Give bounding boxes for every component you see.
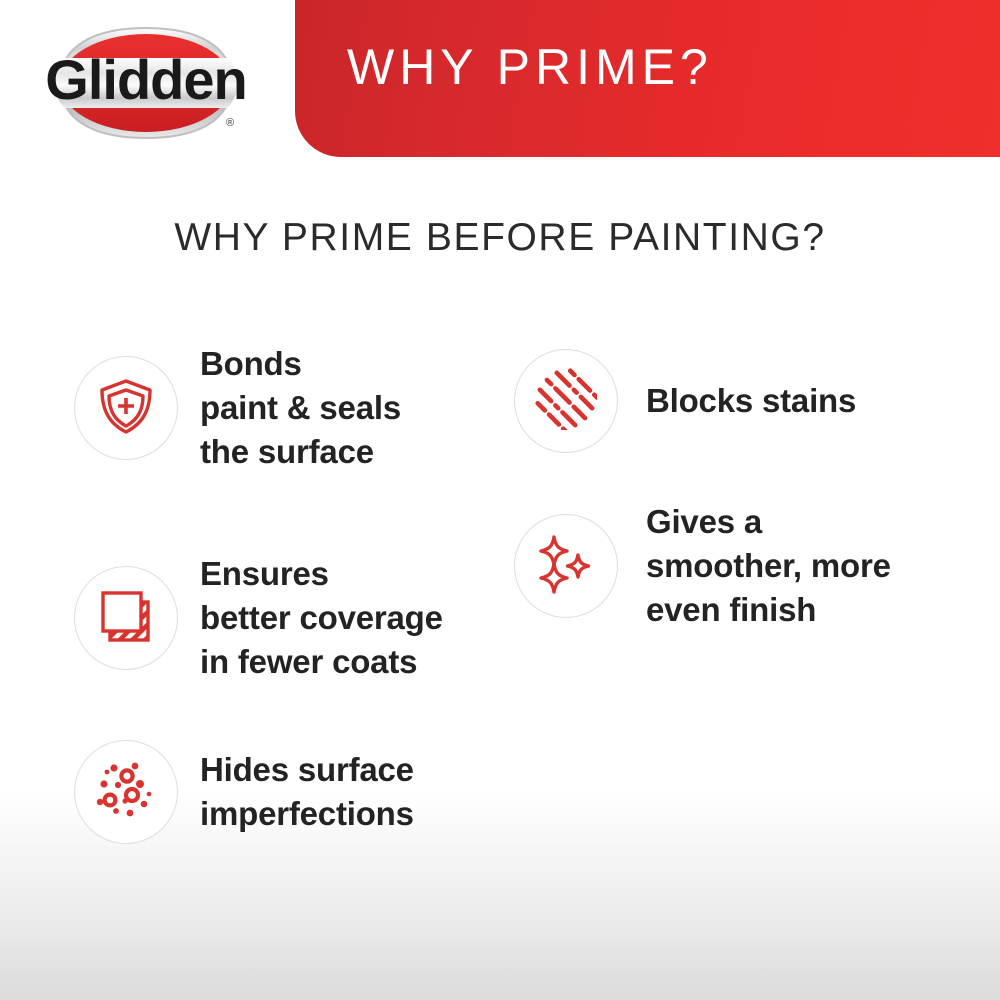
feature-label: Hides surface imperfections bbox=[200, 748, 414, 836]
feature-item-gives: Gives a smoother, more even finish bbox=[514, 500, 891, 632]
glidden-logo: Glidden ® bbox=[46, 22, 246, 144]
sparkles-icon bbox=[535, 533, 597, 600]
svg-text:Glidden: Glidden bbox=[46, 48, 246, 111]
feature-label: Bonds paint & seals the surface bbox=[200, 342, 401, 474]
icon-badge bbox=[74, 356, 178, 460]
icon-badge bbox=[74, 566, 178, 670]
icon-badge bbox=[514, 514, 618, 618]
svg-text:®: ® bbox=[226, 117, 234, 129]
scattered-dots-icon bbox=[94, 758, 158, 827]
feature-label: Ensures better coverage in fewer coats bbox=[200, 552, 443, 684]
icon-badge bbox=[74, 740, 178, 844]
diagonal-strokes-icon bbox=[535, 368, 597, 435]
overlapping-squares-icon bbox=[95, 585, 157, 652]
banner-title: WHY PRIME? bbox=[347, 38, 713, 96]
feature-item-ensures: Ensures better coverage in fewer coats bbox=[74, 552, 443, 684]
feature-item-hides: Hides surface imperfections bbox=[74, 740, 414, 844]
feature-label: Blocks stains bbox=[646, 379, 856, 423]
feature-item-bonds: Bonds paint & seals the surface bbox=[74, 342, 401, 474]
poster-canvas: WHY PRIME? bbox=[0, 0, 1000, 1000]
icon-badge bbox=[514, 349, 618, 453]
shield-plus-icon bbox=[95, 375, 157, 442]
page-subtitle: WHY PRIME BEFORE PAINTING? bbox=[0, 216, 1000, 260]
feature-item-blocks-stains: Blocks stains bbox=[514, 349, 856, 453]
feature-label: Gives a smoother, more even finish bbox=[646, 500, 891, 632]
header-banner: WHY PRIME? bbox=[295, 0, 1000, 157]
